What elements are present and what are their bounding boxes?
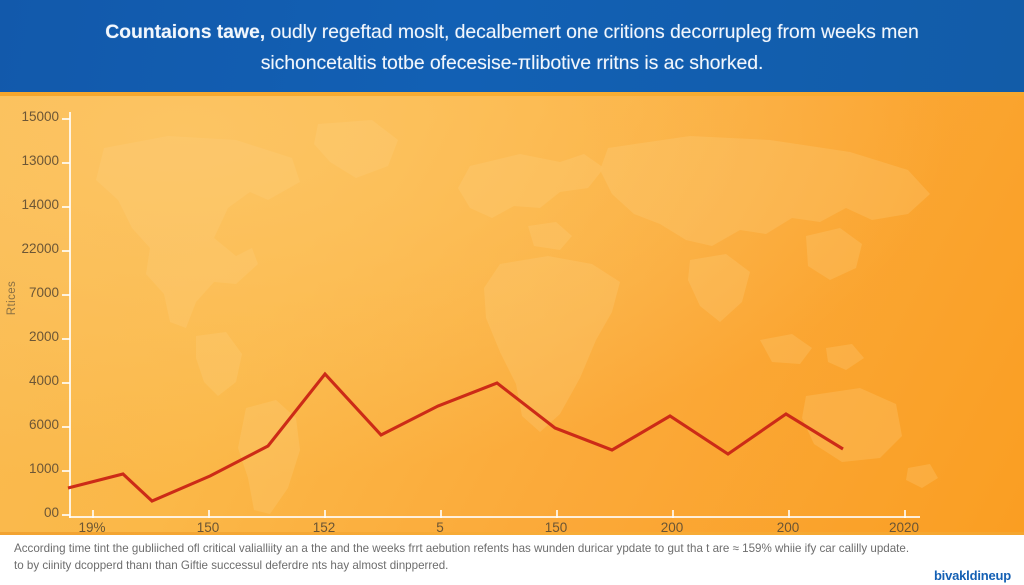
headline-line-2: sichoncetaltis totbe ofecesise-πlibotive… xyxy=(261,48,764,79)
line-series xyxy=(0,96,1024,532)
series-polyline xyxy=(68,374,843,501)
chart-canvas: Rtices 150001300014000220007000200040006… xyxy=(0,96,1024,532)
headline-rest: oudly regeftad moslt, decalbemert one cr… xyxy=(265,21,919,43)
footer-divider xyxy=(0,532,1024,535)
headline-line-1: Countaions tawe, oudly regeftad moslt, d… xyxy=(105,17,919,48)
footnote-text: According time tint the gubliiched ofl c… xyxy=(14,540,914,574)
footer: According time tint the gubliiched ofl c… xyxy=(0,532,1024,585)
chart-page: Countaions tawe, oudly regeftad moslt, d… xyxy=(0,0,1024,585)
header-banner: Countaions tawe, oudly regeftad moslt, d… xyxy=(0,0,1024,92)
header-text-block: Countaions tawe, oudly regeftad moslt, d… xyxy=(0,0,1024,92)
headline-lead: Countaions tawe, xyxy=(105,21,265,43)
brand-label: bivakldineup xyxy=(934,568,1011,583)
